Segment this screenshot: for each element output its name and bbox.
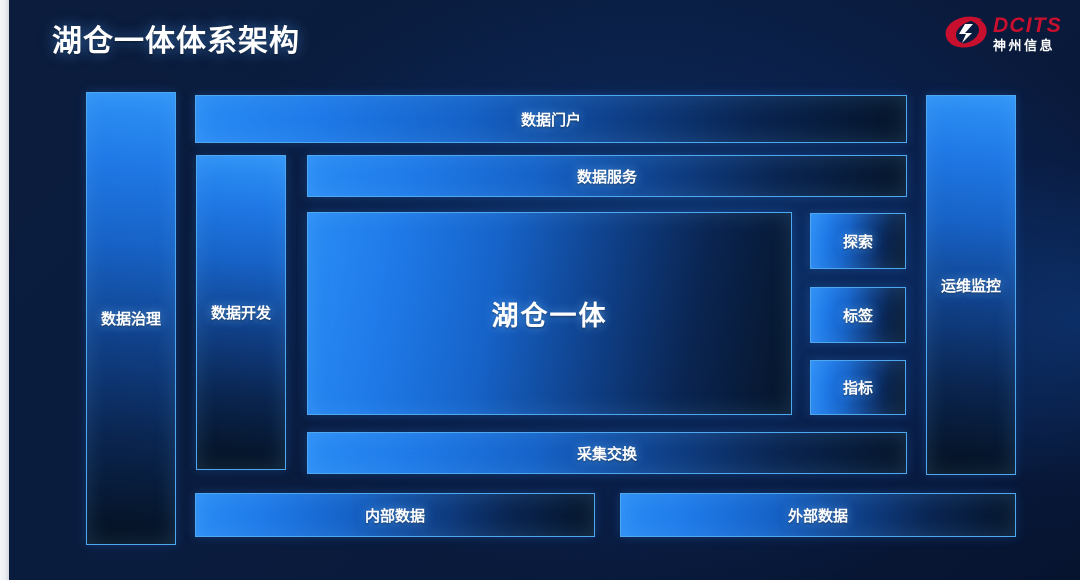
block-data-governance[interactable]: 数据治理 (86, 92, 176, 545)
slide-canvas: 湖仓一体体系架构 DCITS 神州信息 数据治理 数据开发 数据门户 数据服务 … (0, 0, 1080, 580)
block-label: 探索 (843, 231, 873, 252)
slide-left-edge-strip (0, 0, 9, 580)
block-label: 标签 (843, 305, 873, 326)
block-external-data[interactable]: 外部数据 (620, 493, 1016, 537)
block-label: 内部数据 (365, 505, 425, 526)
block-label: 指标 (843, 377, 873, 398)
brand-text: DCITS 神州信息 (993, 15, 1062, 52)
block-collect-exchange[interactable]: 采集交换 (307, 432, 907, 474)
block-label: 采集交换 (577, 443, 637, 464)
block-label: 数据治理 (101, 308, 161, 329)
block-label: 数据服务 (577, 166, 637, 187)
swirl-icon (943, 14, 987, 52)
block-tag[interactable]: 标签 (810, 287, 906, 343)
block-explore[interactable]: 探索 (810, 213, 906, 269)
block-data-portal[interactable]: 数据门户 (195, 95, 907, 143)
block-label: 外部数据 (788, 505, 848, 526)
block-label: 数据开发 (211, 302, 271, 323)
block-data-service[interactable]: 数据服务 (307, 155, 907, 197)
block-metric[interactable]: 指标 (810, 360, 906, 415)
block-label: 数据门户 (521, 109, 581, 130)
brand-logo: DCITS 神州信息 (943, 10, 1062, 56)
brand-sub: 神州信息 (993, 39, 1062, 52)
block-label: 运维监控 (941, 275, 1001, 296)
block-ops-monitor[interactable]: 运维监控 (926, 95, 1016, 475)
block-internal-data[interactable]: 内部数据 (195, 493, 595, 537)
block-lakehouse[interactable]: 湖仓一体 (307, 212, 792, 415)
block-label: 湖仓一体 (492, 294, 608, 333)
block-data-dev[interactable]: 数据开发 (196, 155, 286, 470)
brand-name: DCITS (993, 15, 1062, 36)
page-title: 湖仓一体体系架构 (52, 16, 300, 60)
